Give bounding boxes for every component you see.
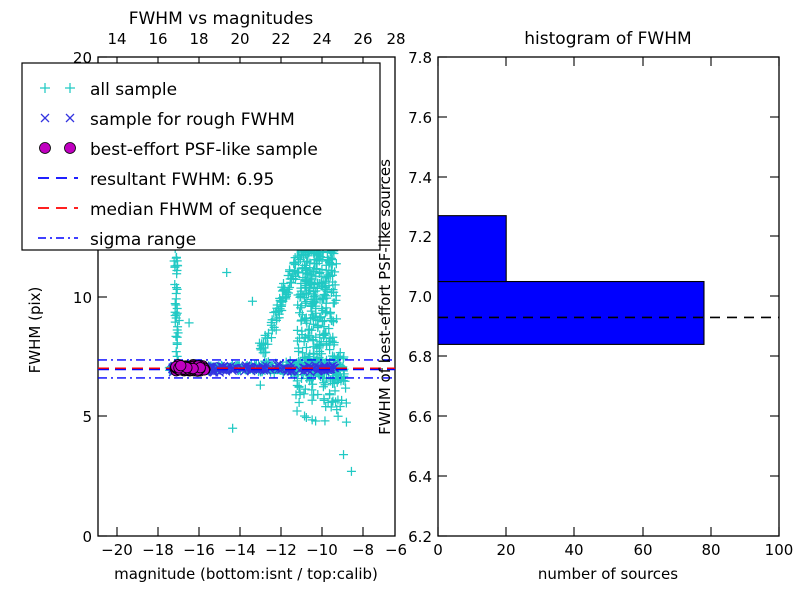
right-panel-ylabel: FWHM of best-effort PSF-like sources [376, 159, 394, 435]
top-tick-label: 22 [271, 30, 290, 48]
bottom-tick-label: −18 [142, 541, 174, 559]
legend-label: best-effort PSF-like sample [90, 140, 318, 160]
y-tick-label: 6.8 [408, 348, 432, 366]
x-tick-label: 100 [765, 541, 794, 559]
x-tick-label: 60 [633, 541, 652, 559]
top-tick-label: 14 [107, 30, 126, 48]
x-tick-label: 40 [564, 541, 583, 559]
legend-label: sample for rough FWHM [90, 110, 295, 130]
y-tick-label: 0 [82, 528, 92, 546]
top-tick-label: 28 [386, 30, 405, 48]
top-tick-label: 20 [230, 30, 249, 48]
y-tick-label: 7.2 [408, 228, 432, 246]
y-tick-label: 6.2 [408, 528, 432, 546]
bottom-tick-label: −6 [385, 541, 407, 559]
bottom-tick-label: −8 [352, 541, 374, 559]
top-tick-label: 26 [353, 30, 372, 48]
histogram-bar [438, 216, 506, 282]
left-panel-ylabel: FWHM (pix) [26, 287, 44, 374]
right-panel-title: histogram of FWHM [524, 29, 691, 49]
left-panel-title: FWHM vs magnitudes [129, 9, 314, 29]
x-tick-label: 0 [433, 541, 443, 559]
legend: all sample sample for rough FWHM best-ef… [22, 63, 380, 250]
x-tick-label: 20 [496, 541, 515, 559]
y-tick-label: 7.4 [408, 169, 432, 187]
bottom-tick-label: −10 [306, 541, 338, 559]
y-tick-label: 6.6 [408, 408, 432, 426]
top-tick-label: 18 [189, 30, 208, 48]
figure-canvas: FWHM vs magnitudes 14 16 18 20 22 24 26 … [0, 0, 800, 600]
y-tick-label: 10 [73, 289, 92, 307]
legend-label: resultant FWHM: 6.95 [90, 170, 274, 190]
bottom-tick-label: −16 [183, 541, 215, 559]
top-tick-label: 24 [312, 30, 331, 48]
legend-label: all sample [90, 80, 177, 100]
bottom-tick-label: −20 [101, 541, 133, 559]
legend-label: sigma range [90, 230, 196, 250]
left-panel-bottom-tick-labels: −20 −18 −16 −14 −12 −10 −8 −6 [101, 541, 407, 559]
y-tick-label: 7.8 [408, 49, 432, 67]
right-panel-xlabel: number of sources [538, 565, 678, 583]
y-tick-label: 6.4 [408, 468, 432, 486]
y-tick-label: 5 [82, 408, 92, 426]
histogram-bar [438, 282, 704, 345]
x-tick-label: 80 [701, 541, 720, 559]
bottom-tick-label: −14 [224, 541, 256, 559]
legend-label: median FHWM of sequence [90, 200, 322, 220]
top-tick-label: 16 [148, 30, 167, 48]
right-panel-y-tick-labels: 6.2 6.4 6.6 6.8 7.0 7.2 7.4 7.6 7.8 [408, 49, 432, 546]
bottom-tick-label: −12 [265, 541, 297, 559]
y-tick-label: 7.0 [408, 288, 432, 306]
left-panel-xlabel: magnitude (bottom:isnt / top:calib) [114, 565, 378, 583]
y-tick-label: 7.6 [408, 109, 432, 127]
scatter-point [176, 360, 186, 370]
scatter-psf-sample [170, 360, 210, 377]
